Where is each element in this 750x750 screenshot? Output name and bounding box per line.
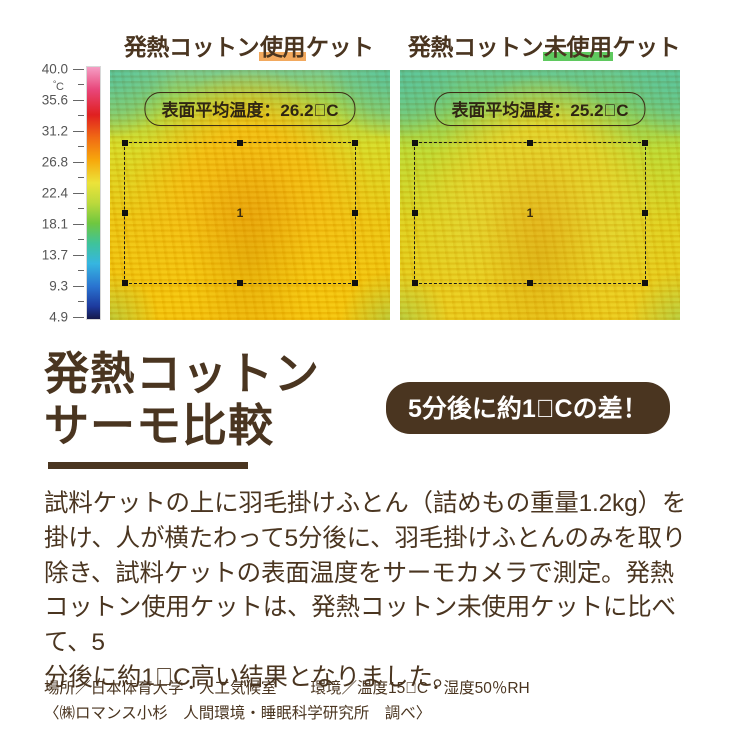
panel-titles: 発熱コットン使用ケット 発熱コットン未使用ケット — [0, 28, 750, 62]
colorbar-tick-3: 26.8 — [42, 155, 68, 170]
footnotes: 場所／日本体育大学・人工気候室環境／温度15゚C・湿度50％RH 〈㈱ロマンス小… — [44, 676, 724, 726]
page-title-line-2: サーモ比較 — [44, 400, 320, 452]
tick-mark-minor — [78, 146, 84, 147]
tick-mark-major — [73, 131, 84, 132]
tick-mark-minor — [78, 301, 84, 302]
roi-rectangle-used[interactable]: 1 — [124, 142, 356, 284]
roi-handle-middle-right[interactable] — [352, 210, 358, 216]
colorbar-tick-2: 31.2 — [42, 124, 68, 139]
tick-mark-major — [73, 69, 84, 70]
tick-mark-minor — [78, 115, 84, 116]
panel-title-unused: 発熱コットン未使用ケット — [408, 28, 680, 62]
colorbar-tick-5: 18.1 — [42, 217, 68, 232]
roi-handle-top-right[interactable] — [352, 140, 358, 146]
avg-temp-callout-unused: 表面平均温度：25.2゚C — [434, 92, 645, 126]
difference-badge: 5分後に約1゚Cの差！ — [386, 382, 670, 434]
roi-handle-top-right[interactable] — [642, 140, 648, 146]
roi-handle-middle-left[interactable] — [412, 210, 418, 216]
panel-title-used-post: ケット — [306, 34, 374, 60]
panel-title-unused-pre: 発熱コットン — [408, 34, 543, 60]
tick-mark-major — [73, 286, 84, 287]
tick-mark-major — [73, 255, 84, 256]
roi-handle-top-left[interactable] — [412, 140, 418, 146]
colorbar-tick-8: 4.9 — [49, 310, 68, 325]
page-title-line-1: 発熱コットン — [44, 348, 320, 400]
description-line-4: コットン使用ケットは、発熱コットン未使用ケットに比べて、5 — [44, 591, 714, 661]
roi-label-used: 1 — [237, 206, 244, 220]
description-text: 試料ケットの上に羽毛掛けふとん（詰めもの重量1.2kg）を 掛け、人が横たわって… — [44, 487, 714, 696]
avg-temp-callout-used: 表面平均温度：26.2゚C — [144, 92, 355, 126]
footnote-conditions: 場所／日本体育大学・人工気候室環境／温度15゚C・湿度50％RH — [44, 676, 724, 701]
thermal-comparison: 40.0 ゚C 35.6 31.2 26.8 22.4 18.1 13.7 9.… — [0, 62, 750, 334]
tick-mark-minor — [78, 208, 84, 209]
tick-mark-minor — [78, 84, 84, 85]
tick-mark-major — [73, 100, 84, 101]
roi-handle-bottom-right[interactable] — [642, 280, 648, 286]
panel-title-unused-post: ケット — [613, 34, 681, 60]
panel-title-used-highlight: 使用 — [259, 28, 306, 62]
description-line-1: 試料ケットの上に羽毛掛けふとん（詰めもの重量1.2kg）を — [44, 487, 714, 522]
colorbar-tick-labels: 40.0 ゚C 35.6 31.2 26.8 22.4 18.1 13.7 9.… — [22, 62, 78, 324]
roi-label-unused: 1 — [527, 206, 534, 220]
roi-handle-bottom-right[interactable] — [352, 280, 358, 286]
panel-title-used: 発熱コットン使用ケット — [124, 28, 374, 62]
roi-handle-bottom-left[interactable] — [122, 280, 128, 286]
tick-mark-minor — [78, 177, 84, 178]
panel-title-unused-highlight: 未使用 — [543, 28, 613, 62]
page-title: 発熱コットン サーモ比較 — [44, 348, 320, 452]
tick-mark-minor — [78, 239, 84, 240]
roi-handle-bottom-center[interactable] — [527, 280, 533, 286]
roi-handle-bottom-center[interactable] — [237, 280, 243, 286]
colorbar-tick-0: 40.0 — [42, 62, 68, 77]
tick-mark-major — [73, 317, 84, 318]
roi-rectangle-unused[interactable]: 1 — [414, 142, 646, 284]
roi-handle-top-center[interactable] — [527, 140, 533, 146]
colorbar-tick-6: 13.7 — [42, 248, 68, 263]
colorbar-tick-1: 35.6 — [42, 93, 68, 108]
roi-handle-top-left[interactable] — [122, 140, 128, 146]
tick-mark-major — [73, 162, 84, 163]
roi-handle-middle-left[interactable] — [122, 210, 128, 216]
roi-handle-middle-right[interactable] — [642, 210, 648, 216]
tick-mark-minor — [78, 270, 84, 271]
temperature-colorbar — [86, 66, 101, 320]
tick-mark-major — [73, 224, 84, 225]
thermal-image-used[interactable]: 表面平均温度：26.2゚C 1 — [110, 70, 390, 320]
footnote-environment: 環境／温度15゚C・湿度50％RH — [311, 680, 530, 697]
description-line-3: 除き、試料ケットの表面温度をサーモカメラで測定。発熱 — [44, 557, 714, 592]
footnote-source: 〈㈱ロマンス小杉 人間環境・睡眠科学研究所 調べ〉 — [44, 701, 724, 726]
panel-title-used-pre: 発熱コットン — [124, 34, 259, 60]
tick-mark-major — [73, 193, 84, 194]
roi-handle-top-center[interactable] — [237, 140, 243, 146]
description-line-2: 掛け、人が横たわって5分後に、羽毛掛けふとんのみを取り — [44, 522, 714, 557]
colorbar-tick-4: 22.4 — [42, 186, 68, 201]
footnote-place: 場所／日本体育大学・人工気候室 — [44, 680, 277, 697]
roi-handle-bottom-left[interactable] — [412, 280, 418, 286]
title-underline-rule — [48, 462, 248, 469]
colorbar-tick-7: 9.3 — [49, 279, 68, 294]
colorbar-tick-marks — [72, 62, 84, 324]
thermal-image-unused[interactable]: 表面平均温度：25.2゚C 1 — [400, 70, 680, 320]
